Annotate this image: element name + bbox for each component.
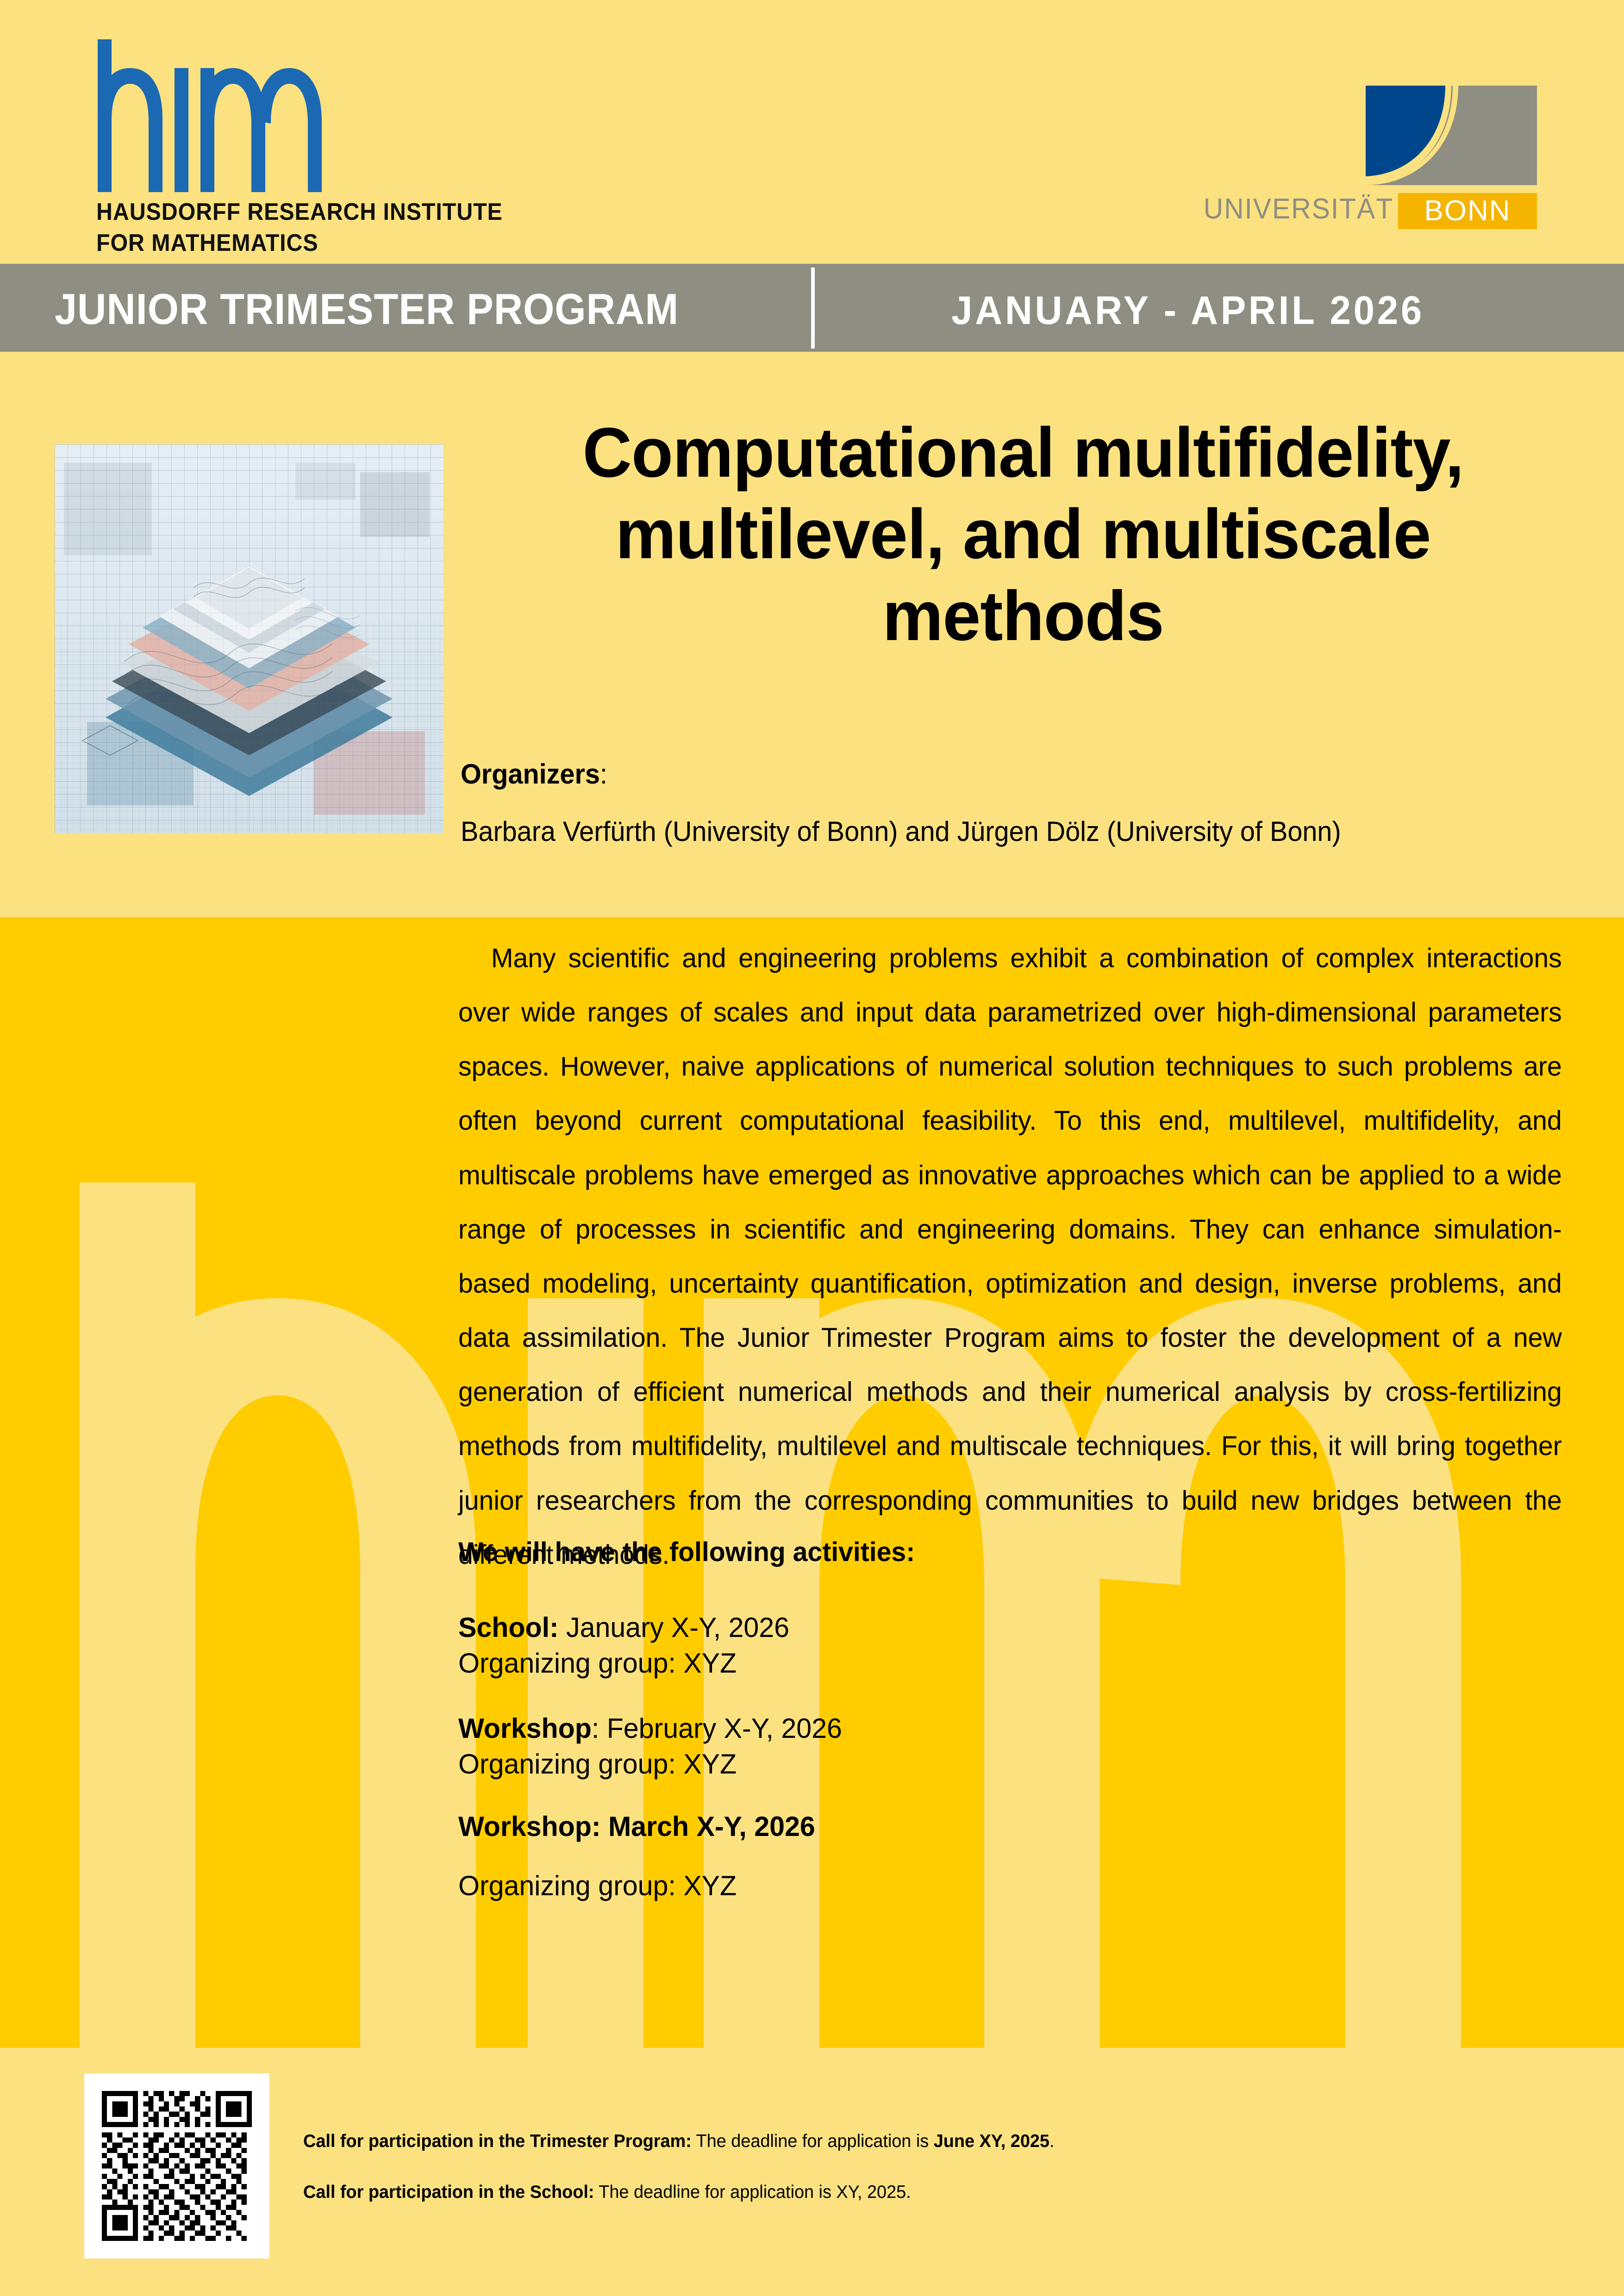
uni-bonn-university-word: UNIVERSITÄT — [1178, 193, 1394, 225]
layered-surfaces-illustration — [55, 444, 443, 833]
activity-workshop-february-group: Organizing group: XYZ — [458, 1747, 842, 1782]
page-footer: Call for participation in the Trimester … — [0, 2048, 1624, 2296]
activity-workshop-february-title: Workshop: February X-Y, 2026 — [458, 1711, 842, 1747]
call-trimester-program: Call for participation in the Trimester … — [303, 2131, 1054, 2152]
organizers-label-colon: : — [600, 759, 607, 790]
organizers-label: Organizers: — [461, 758, 607, 790]
him-logo: HAUSDORFF RESEARCH INSTITUTE FOR MATHEMA… — [95, 39, 650, 234]
activity-school-group: Organizing group: XYZ — [458, 1646, 789, 1681]
qr-code[interactable] — [84, 2073, 269, 2259]
qr-code-icon — [102, 2091, 252, 2241]
activity-school: School: January X-Y, 2026 Organizing gro… — [458, 1610, 789, 1681]
him-logo-mark — [95, 39, 354, 192]
call-trimester-program-label: Call for participation in the Trimester … — [303, 2131, 692, 2151]
call-trimester-program-text: The deadline for application is — [692, 2131, 934, 2151]
organizers-label-bold: Organizers — [461, 759, 600, 790]
activity-school-date: January X-Y, 2026 — [559, 1612, 789, 1643]
page-title: Computational multifidelity, multilevel,… — [480, 412, 1566, 657]
activity-school-title: School: January X-Y, 2026 — [458, 1610, 789, 1646]
call-school-label: Call for participation in the School: — [303, 2182, 594, 2202]
banner-program-label: JUNIOR TRIMESTER PROGRAM — [55, 284, 679, 334]
call-school: Call for participation in the School: Th… — [303, 2182, 911, 2203]
activity-school-label: School: — [458, 1612, 559, 1643]
uni-bonn-crest-icon — [1366, 86, 1537, 185]
banner-divider — [811, 268, 815, 348]
organizers-names: Barbara Verfürth (University of Bonn) an… — [461, 815, 1341, 847]
program-banner: JUNIOR TRIMESTER PROGRAM JANUARY - APRIL… — [0, 264, 1624, 352]
call-school-text: The deadline for application is XY, 2025… — [594, 2182, 911, 2202]
activity-workshop-march-label: Workshop: March X-Y, 2026 — [458, 1811, 815, 1842]
activity-workshop-march-group-wrap: Organizing group: XYZ — [458, 1868, 737, 1904]
activity-workshop-february: Workshop: February X-Y, 2026 Organizing … — [458, 1711, 842, 1782]
uni-bonn-city-word: BONN — [1398, 193, 1537, 229]
activity-workshop-february-date: : February X-Y, 2026 — [592, 1713, 842, 1744]
main-content-section: Many scientific and engineering problems… — [0, 917, 1624, 2048]
activity-workshop-march-title: Workshop: March X-Y, 2026 — [458, 1809, 815, 1845]
title-section: Computational multifidelity, multilevel,… — [0, 352, 1624, 917]
uni-bonn-logo: UNIVERSITÄT BONN — [1167, 86, 1537, 229]
program-description: Many scientific and engineering problems… — [458, 931, 1562, 1582]
call-trimester-program-deadline: June XY, 2025 — [934, 2131, 1049, 2151]
program-thumbnail-image — [55, 444, 443, 833]
him-logo-subtitle: HAUSDORFF RESEARCH INSTITUTE FOR MATHEMA… — [96, 197, 503, 258]
activity-workshop-march-group: Organizing group: XYZ — [458, 1868, 737, 1904]
page-header: HAUSDORFF RESEARCH INSTITUTE FOR MATHEMA… — [0, 0, 1624, 259]
activities-heading: We will have the following activities: — [458, 1537, 915, 1568]
activity-workshop-march: Workshop: March X-Y, 2026 — [458, 1809, 815, 1845]
activity-workshop-february-label: Workshop — [458, 1713, 592, 1744]
call-trimester-program-period: . — [1049, 2131, 1055, 2151]
banner-date-label: JANUARY - APRIL 2026 — [951, 288, 1424, 334]
